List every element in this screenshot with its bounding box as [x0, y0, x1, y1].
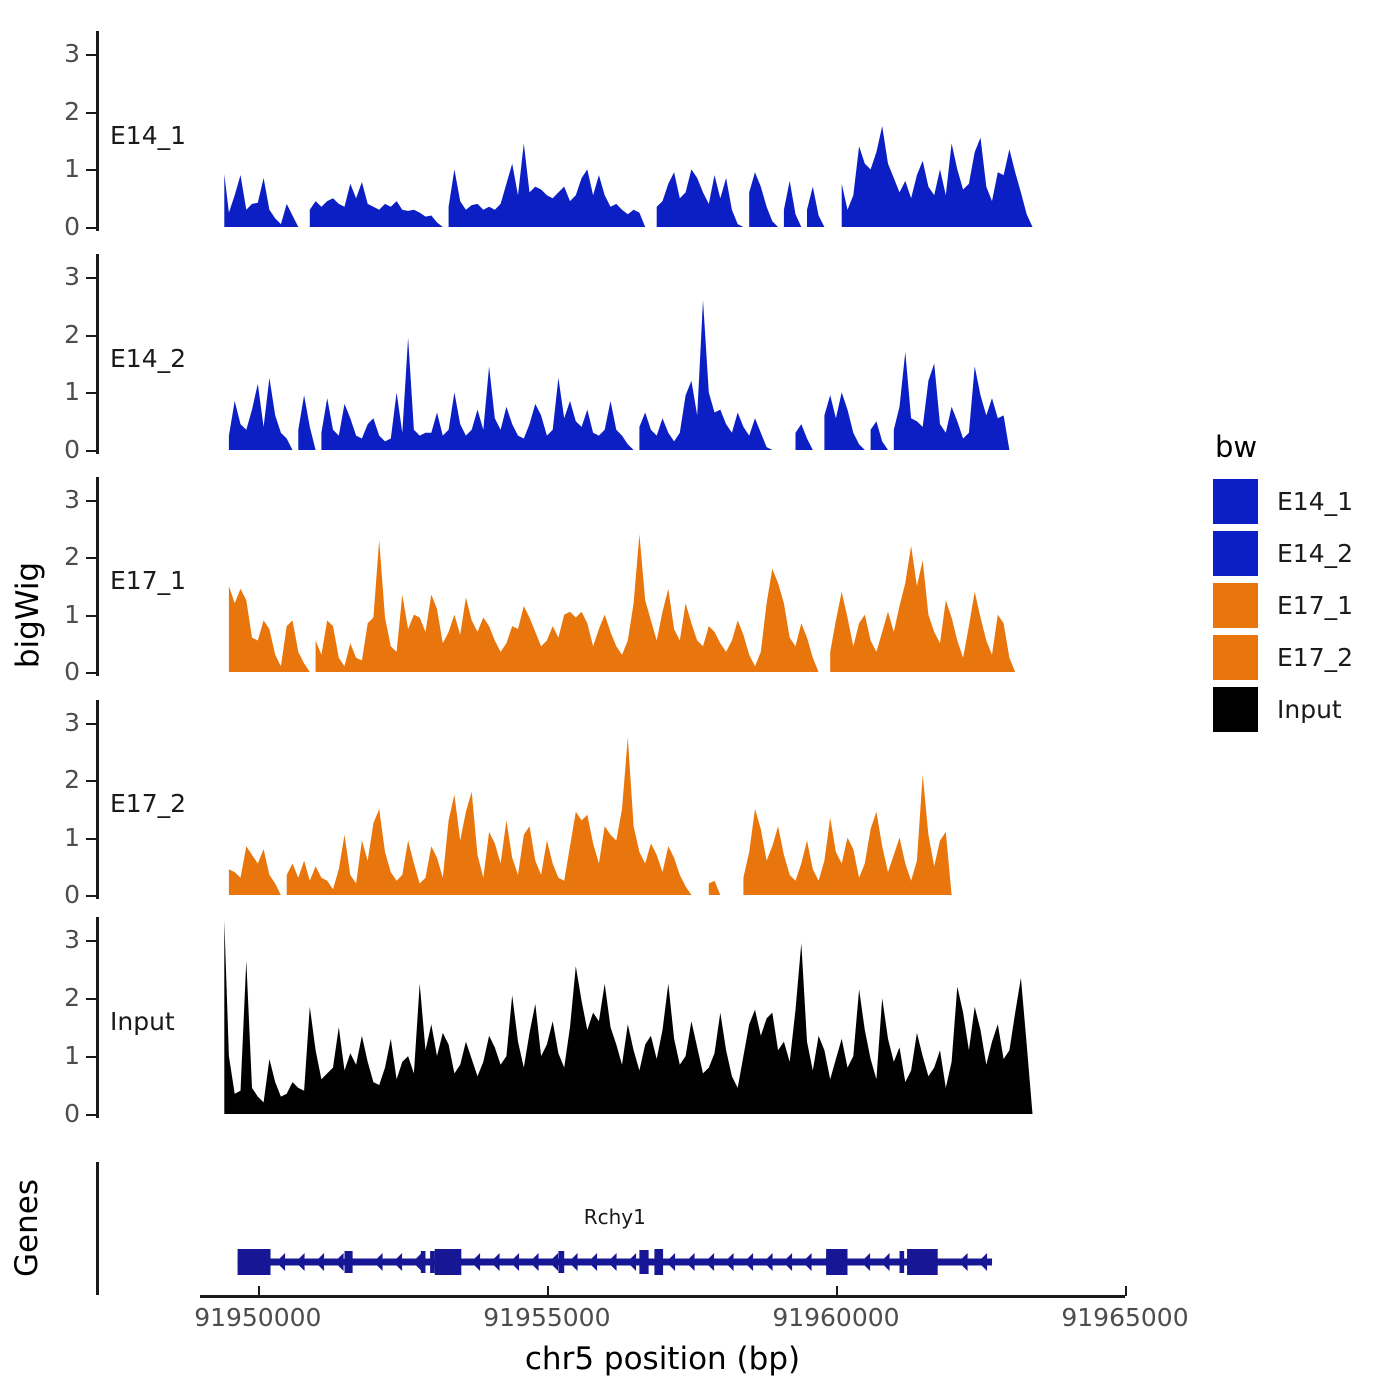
coverage-area-e14_2 — [229, 300, 1096, 450]
x-tick-91955000 — [547, 1286, 549, 1296]
legend-item-e17_2[interactable]: E17_2 — [1213, 633, 1393, 681]
y-tick-e17_1-3 — [86, 500, 97, 502]
coverage-track-e14_1[interactable] — [200, 31, 1125, 229]
legend-items: E14_1E14_2E17_1E17_2Input — [1213, 477, 1393, 733]
legend-label-e17_2: E17_2 — [1277, 645, 1353, 670]
y-tick-label-input-2: 2 — [20, 985, 80, 1010]
legend-title: bw — [1215, 430, 1393, 464]
gene-exon-7 — [639, 1250, 648, 1274]
x-tick-91965000 — [1125, 1286, 1127, 1296]
y-tick-label-e17_1-3: 3 — [20, 487, 80, 512]
coverage-track-e17_2[interactable] — [200, 700, 1125, 897]
track-label-e14_2: E14_2 — [110, 346, 186, 371]
coverage-area-e17_2 — [229, 737, 1079, 895]
gene-exon-6 — [558, 1251, 564, 1273]
x-tick-label-91950000: 91950000 — [148, 1303, 368, 1333]
y-tick-e17_2-2 — [86, 780, 97, 782]
gene-exon-9 — [826, 1249, 847, 1275]
legend-key-swatch-input — [1213, 687, 1258, 732]
gene-model-rchy1[interactable] — [200, 1240, 1125, 1290]
y-axis-line-e14_2 — [96, 254, 99, 454]
y-tick-label-e17_1-0: 0 — [20, 659, 80, 684]
gene-exon-11 — [907, 1249, 938, 1275]
coverage-area-e14_1 — [224, 126, 1119, 227]
y-tick-e14_2-1 — [86, 392, 97, 394]
y-tick-e17_1-0 — [86, 672, 97, 674]
x-tick-91960000 — [836, 1286, 838, 1296]
y-tick-label-e14_1-1: 1 — [20, 156, 80, 181]
y-tick-label-e14_2-2: 2 — [20, 322, 80, 347]
y-tick-e14_2-2 — [86, 335, 97, 337]
y-axis-line-e17_1 — [96, 477, 99, 676]
y-axis-line-e14_1 — [96, 31, 99, 231]
legend-label-e14_2: E14_2 — [1277, 541, 1353, 566]
y-tick-label-e14_1-3: 3 — [20, 41, 80, 66]
coverage-track-input[interactable] — [200, 917, 1125, 1116]
y-tick-e14_1-3 — [86, 54, 97, 56]
y-tick-label-e14_2-3: 3 — [20, 264, 80, 289]
x-tick-label-91965000: 91965000 — [1015, 1303, 1235, 1333]
y-tick-input-2 — [86, 998, 97, 1000]
coverage-area-input — [224, 920, 1119, 1114]
legend-item-e17_1[interactable]: E17_1 — [1213, 581, 1393, 629]
legend: bw E14_1E14_2E17_1E17_2Input — [1213, 430, 1393, 737]
y-tick-label-e17_2-2: 2 — [20, 767, 80, 792]
track-label-e17_1: E17_1 — [110, 568, 186, 593]
y-tick-label-e17_2-3: 3 — [20, 710, 80, 735]
y-tick-e14_1-1 — [86, 169, 97, 171]
y-tick-e14_1-2 — [86, 112, 97, 114]
y-tick-input-1 — [86, 1056, 97, 1058]
y-tick-label-e17_1-1: 1 — [20, 602, 80, 627]
legend-item-e14_2[interactable]: E14_2 — [1213, 529, 1393, 577]
legend-key-swatch-e17_2 — [1213, 635, 1258, 680]
legend-key-swatch-e17_1 — [1213, 583, 1258, 628]
legend-key-swatch-e14_1 — [1213, 479, 1258, 524]
gene-exon-2 — [345, 1251, 353, 1273]
y-tick-e17_2-0 — [86, 895, 97, 897]
y-tick-label-input-3: 3 — [20, 927, 80, 952]
y-tick-label-input-1: 1 — [20, 1043, 80, 1068]
legend-item-input[interactable]: Input — [1213, 685, 1393, 733]
y-tick-label-e17_2-1: 1 — [20, 825, 80, 850]
gene-exon-5 — [435, 1249, 462, 1275]
legend-label-e14_1: E14_1 — [1277, 489, 1353, 514]
coverage-track-e17_1[interactable] — [200, 477, 1125, 674]
legend-item-e14_1[interactable]: E14_1 — [1213, 477, 1393, 525]
y-tick-label-e14_1-2: 2 — [20, 99, 80, 124]
track-label-e17_2: E17_2 — [110, 791, 186, 816]
coverage-area-e17_1 — [229, 534, 1102, 672]
y-tick-label-e14_1-0: 0 — [20, 214, 80, 239]
legend-key-swatch-e14_2 — [1213, 531, 1258, 576]
y-tick-e14_2-3 — [86, 277, 97, 279]
x-axis-line — [200, 1295, 1125, 1298]
y-tick-e17_1-2 — [86, 557, 97, 559]
gene-name-label: Rchy1 — [515, 1206, 715, 1228]
y-axis-line-e17_2 — [96, 700, 99, 899]
gene-exon-8 — [654, 1249, 663, 1275]
track-label-input: Input — [110, 1009, 175, 1034]
y-axis-title-genes: Genes — [7, 1168, 47, 1288]
y-tick-e17_1-1 — [86, 615, 97, 617]
legend-label-input: Input — [1277, 697, 1342, 722]
y-axis-line-input — [96, 917, 99, 1118]
y-tick-e14_2-0 — [86, 450, 97, 452]
y-tick-label-e14_2-0: 0 — [20, 437, 80, 462]
track-label-e14_1: E14_1 — [110, 123, 186, 148]
x-axis-title: chr5 position (bp) — [300, 1340, 1025, 1378]
gene-exon-10 — [900, 1251, 905, 1273]
y-tick-e14_1-0 — [86, 227, 97, 229]
coverage-track-e14_2[interactable] — [200, 254, 1125, 452]
y-tick-label-e14_2-1: 1 — [20, 379, 80, 404]
x-tick-label-91960000: 91960000 — [726, 1303, 946, 1333]
legend-label-e17_1: E17_1 — [1277, 593, 1353, 618]
y-tick-input-0 — [86, 1114, 97, 1116]
genes-axis-line — [96, 1162, 99, 1295]
x-tick-label-91955000: 91955000 — [437, 1303, 657, 1333]
y-tick-e17_2-1 — [86, 838, 97, 840]
figure-root: bigWig Genes 0123E14_10123E14_20123E17_1… — [0, 0, 1400, 1400]
y-tick-label-e17_2-0: 0 — [20, 882, 80, 907]
y-tick-input-3 — [86, 940, 97, 942]
y-tick-label-input-0: 0 — [20, 1101, 80, 1126]
gene-exon-1 — [238, 1249, 271, 1275]
gene-exon-4 — [430, 1251, 435, 1273]
y-tick-label-e17_1-2: 2 — [20, 544, 80, 569]
y-tick-e17_2-3 — [86, 723, 97, 725]
x-tick-91950000 — [258, 1286, 260, 1296]
